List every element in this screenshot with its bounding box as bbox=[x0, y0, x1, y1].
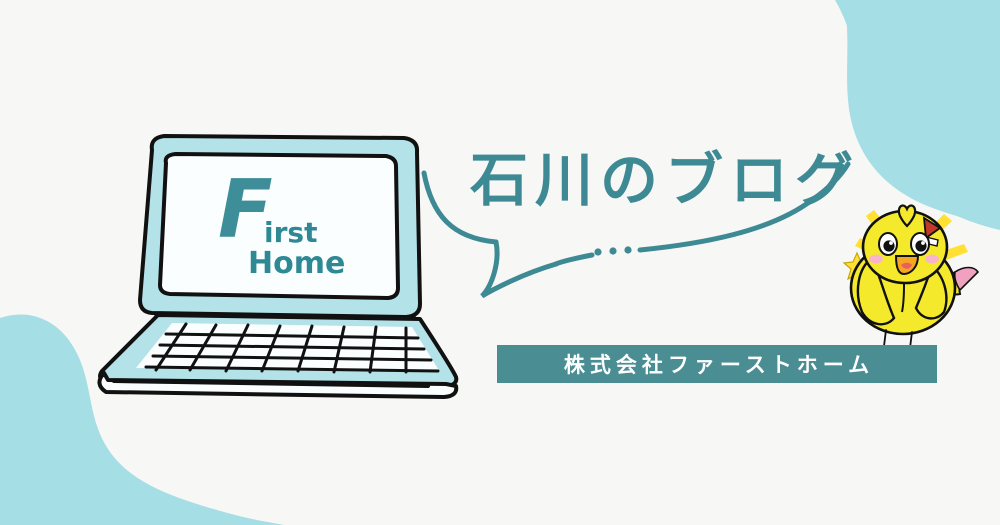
chick-cheek-left bbox=[869, 255, 883, 264]
blog-title: 石川のブログ bbox=[470, 133, 860, 217]
chick-mascot bbox=[844, 205, 978, 358]
logo-word-irst: irst bbox=[264, 216, 317, 249]
chick-eye-glint-left bbox=[889, 241, 893, 245]
speech-bubble-right-arc bbox=[556, 255, 592, 264]
chick-eye-glint-right bbox=[921, 241, 925, 245]
speech-bubble-dots bbox=[594, 246, 631, 255]
company-name-banner: 株式会社ファーストホーム bbox=[497, 345, 937, 383]
chick-pupil-right bbox=[915, 240, 926, 251]
chick-cheek-right bbox=[925, 255, 939, 264]
chick-pupil-left bbox=[883, 240, 894, 251]
illustration-layer bbox=[0, 0, 1000, 525]
banner-canvas: F irst Home 石川のブログ 株式会社ファーストホーム bbox=[0, 0, 1000, 525]
speech-bubble-tail bbox=[482, 242, 556, 296]
company-name-label: 株式会社ファーストホーム bbox=[564, 349, 874, 379]
logo-word-home: Home bbox=[248, 246, 345, 281]
first-home-logo: F irst Home bbox=[192, 172, 342, 280]
chick-tail-pink bbox=[955, 268, 978, 291]
